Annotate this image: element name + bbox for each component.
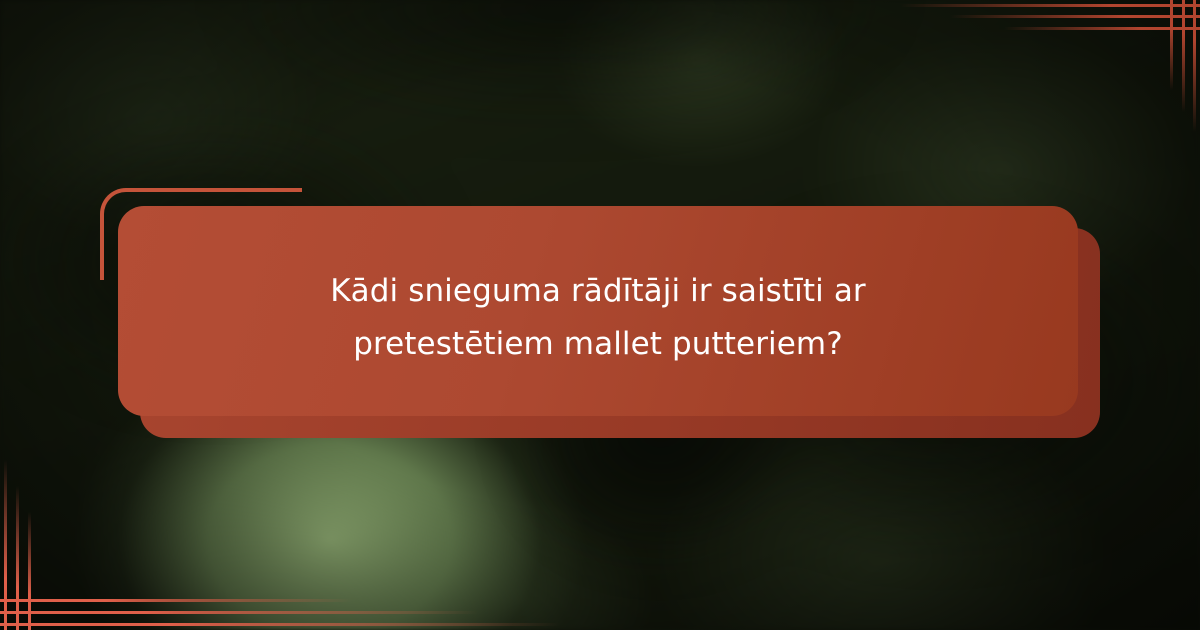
- corner-rule-v-1: [4, 460, 7, 630]
- top-right-corner-rules: [840, 0, 1200, 170]
- question-text: Kādi snieguma rādītāji ir saistīti ar pr…: [248, 251, 948, 372]
- question-card: Kādi snieguma rādītāji ir saistīti ar pr…: [118, 206, 1078, 416]
- corner-rule-v-1: [1193, 0, 1196, 132]
- corner-rule-h-2: [0, 611, 478, 614]
- corner-rule-v-3: [28, 512, 31, 630]
- corner-rule-h-1: [900, 4, 1200, 7]
- corner-rule-h-1: [0, 623, 560, 626]
- corner-rule-v-2: [1182, 0, 1185, 112]
- corner-rule-h-3: [0, 599, 352, 602]
- corner-rule-v-2: [16, 486, 19, 630]
- screenshot-canvas: Kādi snieguma rādītāji ir saistīti ar pr…: [0, 0, 1200, 630]
- corner-rule-h-2: [950, 15, 1200, 18]
- corner-rule-v-3: [1170, 0, 1173, 90]
- bottom-left-corner-rules: [0, 410, 620, 630]
